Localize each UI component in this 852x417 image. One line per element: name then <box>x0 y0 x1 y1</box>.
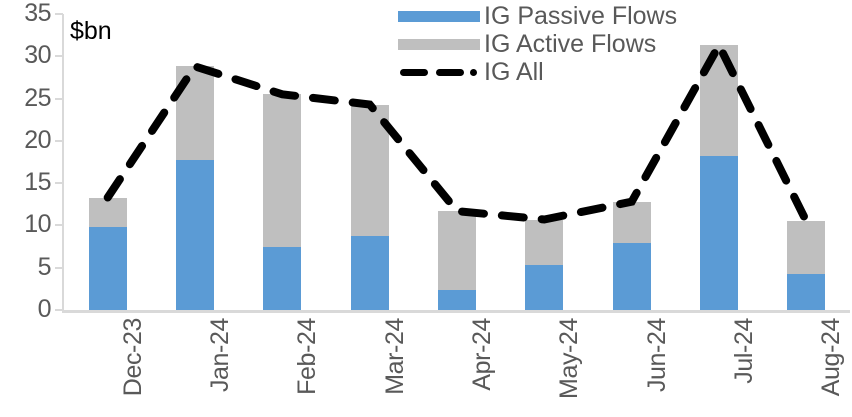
legend-swatch-passive-icon <box>398 2 480 30</box>
x-axis-tick-label: Jan-24 <box>208 318 233 392</box>
x-axis-tick-label: Mar-24 <box>383 318 408 395</box>
chart-container: 35302520151050 $bn Dec-23Jan-24Feb-24Mar… <box>0 0 852 417</box>
x-axis-tick-label: Jul-24 <box>732 318 757 384</box>
legend-item-passive[interactable]: IG Passive Flows <box>398 2 698 30</box>
x-axis-tick-label: Jun-24 <box>645 318 670 392</box>
chart-legend: IG Passive Flows IG Active Flows IG All <box>398 2 698 86</box>
legend-item-active[interactable]: IG Active Flows <box>398 30 698 58</box>
legend-label-all: IG All <box>480 60 544 85</box>
legend-swatch-active-icon <box>398 30 480 58</box>
legend-label-passive: IG Passive Flows <box>480 4 677 29</box>
legend-dashed-line-icon <box>398 58 480 86</box>
x-axis-tick-label: Dec-23 <box>121 318 146 396</box>
legend-label-active: IG Active Flows <box>480 32 656 57</box>
x-axis-tick-label: Feb-24 <box>295 318 320 395</box>
x-axis-tick-label: Apr-24 <box>470 318 495 391</box>
legend-item-all[interactable]: IG All <box>398 58 698 86</box>
x-axis-tick-label: May-24 <box>557 318 582 399</box>
x-axis-tick-label: Aug-24 <box>819 318 844 396</box>
